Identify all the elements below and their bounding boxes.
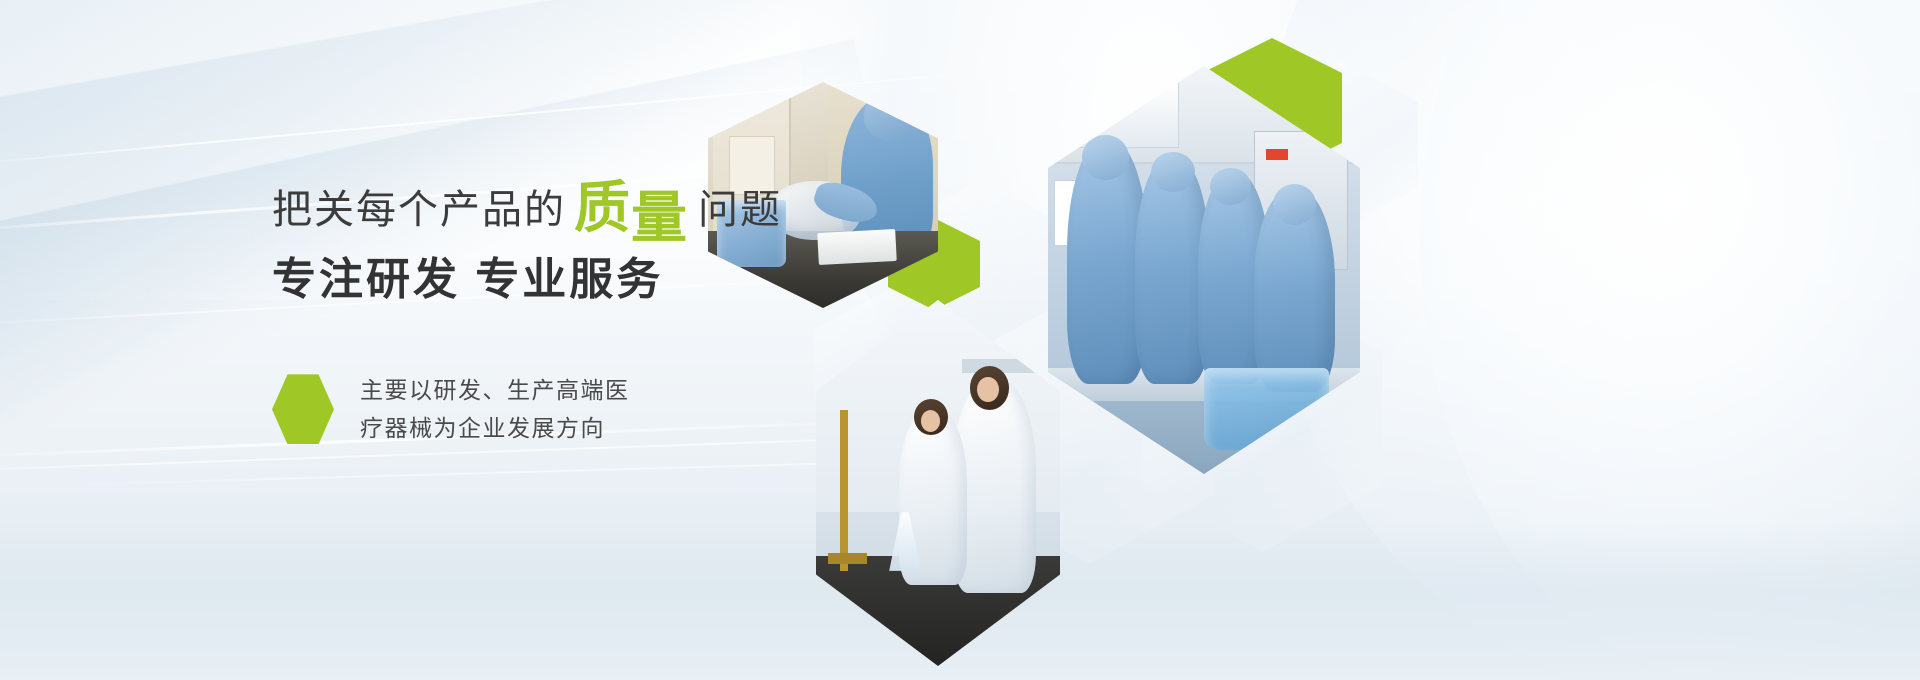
headline-accent-char-2: 量 [631,190,688,246]
headline-line-2: 专注研发 专业服务 [272,256,892,304]
headline-accent-char-1: 质 [574,176,631,239]
banner-subtext: 主要以研发、生产高端医 疗器械为企业发展方向 [360,370,630,447]
green-hexagon-bullet-icon [272,374,334,444]
subtext-row: 主要以研发、生产高端医 疗器械为企业发展方向 [272,370,892,447]
hero-banner: 把关每个产品的 质量 问题 专注研发 专业服务 主要以研发、生产高端医 疗器械为… [0,0,1920,680]
headline-line-1: 把关每个产品的 质量 问题 [272,176,892,232]
banner-copy-block: 把关每个产品的 质量 问题 专注研发 专业服务 主要以研发、生产高端医 疗器械为… [272,176,892,447]
headline-accent-group: 质量 [574,180,688,236]
headline-prefix: 把关每个产品的 [272,190,566,232]
headline-suffix: 问题 [698,190,782,232]
